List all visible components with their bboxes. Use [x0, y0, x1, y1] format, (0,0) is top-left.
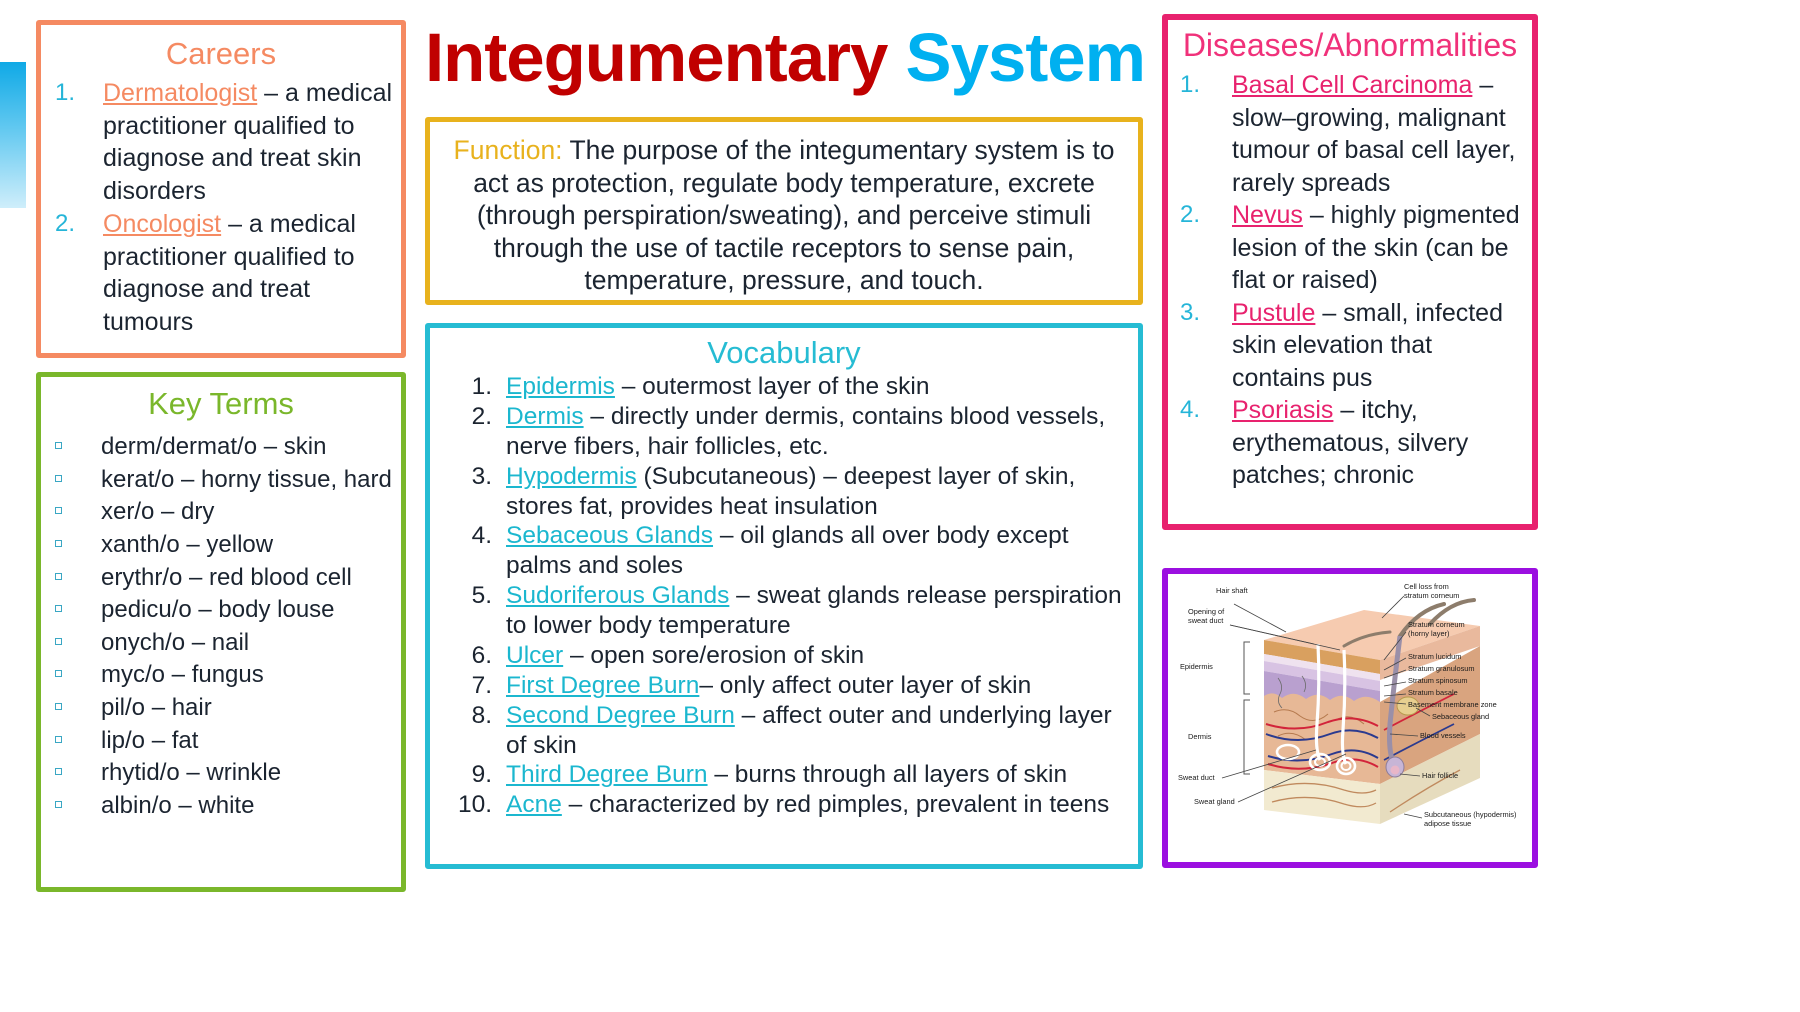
vocabulary-item-number: 9. — [450, 760, 506, 790]
skin-diagram: Hair shaft Opening of sweat duct Epiderm… — [1168, 574, 1532, 862]
function-card: Function: The purpose of the integumenta… — [425, 117, 1143, 305]
diseases-item: 4.Psoriasis – itchy, erythematous, silve… — [1180, 394, 1524, 492]
page-title: Integumentary System — [420, 22, 1150, 94]
vocabulary-item-text: First Degree Burn– only affect outer lay… — [506, 671, 1128, 701]
key-terms-item-text: lip/o – fat — [101, 725, 393, 758]
square-bullet-icon — [55, 529, 101, 547]
vocabulary-item-term: Third Degree Burn — [506, 761, 708, 788]
label-blood-vessels: Blood vessels — [1420, 731, 1466, 740]
label-stratum-granulosum: Stratum granulosum — [1408, 664, 1475, 673]
key-terms-item: erythr/o – red blood cell — [55, 562, 393, 595]
vocabulary-item-text: Third Degree Burn – burns through all la… — [506, 760, 1128, 790]
key-terms-item-text: xer/o – dry — [101, 496, 393, 529]
label-sweat-duct: Sweat duct — [1178, 773, 1215, 782]
vocabulary-item-term: Epidermis — [506, 373, 615, 400]
key-terms-item-text: rhytid/o – wrinkle — [101, 757, 393, 790]
left-accent-bar — [0, 62, 26, 208]
square-bullet-icon — [55, 790, 101, 808]
title-word-system: System — [906, 19, 1145, 96]
vocabulary-item-term: First Degree Burn — [506, 672, 699, 699]
key-terms-item-text: myc/o – fungus — [101, 659, 393, 692]
careers-item-text: Oncologist – a medical practitioner qual… — [103, 208, 393, 338]
vocabulary-item: 10.Acne – characterized by red pimples, … — [450, 790, 1128, 820]
label-stratum-basale: Stratum basale — [1408, 688, 1458, 697]
label-stratum-corneum: Stratum corneum (horny layer) — [1408, 620, 1465, 638]
key-terms-item-text: onych/o – nail — [101, 627, 393, 660]
vocabulary-item-definition: – directly under dermis, contains blood … — [506, 403, 1105, 460]
key-terms-item: xanth/o – yellow — [55, 529, 393, 562]
vocabulary-item-definition: – outermost layer of the skin — [615, 373, 930, 400]
vocabulary-item: 8.Second Degree Burn – affect outer and … — [450, 701, 1128, 761]
diseases-item-text: Psoriasis – itchy, erythematous, silvery… — [1232, 394, 1524, 492]
label-hair-follicle: Hair follicle — [1422, 771, 1458, 780]
vocabulary-item-number: 1. — [450, 372, 506, 402]
careers-item-text: Dermatologist – a medical practitioner q… — [103, 77, 393, 207]
key-terms-item: xer/o – dry — [55, 496, 393, 529]
square-bullet-icon — [55, 627, 101, 645]
key-terms-list: derm/dermat/o – skinkerat/o – horny tiss… — [41, 431, 401, 823]
square-bullet-icon — [55, 692, 101, 710]
skin-diagram-card: Hair shaft Opening of sweat duct Epiderm… — [1162, 568, 1538, 868]
square-bullet-icon — [55, 659, 101, 677]
square-bullet-icon — [55, 725, 101, 743]
vocabulary-item-term: Hypodermis — [506, 463, 637, 490]
diseases-item: 1.Basal Cell Carcinoma – slow–growing, m… — [1180, 69, 1524, 199]
careers-item: 2.Oncologist – a medical practitioner qu… — [55, 208, 393, 338]
diseases-item-number: 4. — [1180, 394, 1232, 425]
square-bullet-icon — [55, 594, 101, 612]
diseases-card: Diseases/Abnormalities 1.Basal Cell Carc… — [1162, 14, 1538, 530]
vocabulary-card: Vocabulary 1.Epidermis – outermost layer… — [425, 323, 1143, 869]
diseases-item-number: 1. — [1180, 69, 1232, 100]
careers-item: 1.Dermatologist – a medical practitioner… — [55, 77, 393, 207]
key-terms-item: pil/o – hair — [55, 692, 393, 725]
careers-item-number: 1. — [55, 77, 103, 108]
vocabulary-item-definition: – characterized by red pimples, prevalen… — [562, 791, 1109, 818]
vocabulary-item: 7.First Degree Burn– only affect outer l… — [450, 671, 1128, 701]
vocabulary-item: 5.Sudoriferous Glands – sweat glands rel… — [450, 581, 1128, 641]
square-bullet-icon — [55, 496, 101, 514]
vocabulary-item-number: 7. — [450, 671, 506, 701]
vocabulary-item: 9.Third Degree Burn – burns through all … — [450, 760, 1128, 790]
key-terms-item: albin/o – white — [55, 790, 393, 823]
diseases-item-term: Pustule — [1232, 299, 1315, 327]
vocabulary-item-number: 6. — [450, 641, 506, 671]
function-body: The purpose of the integumentary system … — [473, 135, 1114, 295]
careers-item-number: 2. — [55, 208, 103, 239]
vocabulary-item-term: Dermis — [506, 403, 584, 430]
vocabulary-item-definition: – open sore/erosion of skin — [563, 642, 864, 669]
vocabulary-item-number: 2. — [450, 402, 506, 432]
vocabulary-item-number: 8. — [450, 701, 506, 731]
vocabulary-item-text: Hypodermis (Subcutaneous) – deepest laye… — [506, 462, 1128, 522]
diseases-item-text: Pustule – small, infected skin elevation… — [1232, 297, 1524, 395]
key-terms-item: lip/o – fat — [55, 725, 393, 758]
square-bullet-icon — [55, 431, 101, 449]
label-epidermis: Epidermis — [1180, 662, 1213, 671]
vocabulary-item-text: Epidermis – outermost layer of the skin — [506, 372, 1128, 402]
vocabulary-item-number: 4. — [450, 521, 506, 551]
key-terms-item: rhytid/o – wrinkle — [55, 757, 393, 790]
careers-list: 1.Dermatologist – a medical practitioner… — [41, 77, 401, 338]
diseases-item-term: Basal Cell Carcinoma — [1232, 71, 1472, 99]
vocabulary-item-number: 3. — [450, 462, 506, 492]
label-sebaceous-gland: Sebaceous gland — [1432, 712, 1489, 721]
key-terms-item-text: kerat/o – horny tissue, hard — [101, 464, 393, 497]
key-terms-item: myc/o – fungus — [55, 659, 393, 692]
key-terms-item-text: pil/o – hair — [101, 692, 393, 725]
vocabulary-item: 2.Dermis – directly under dermis, contai… — [450, 402, 1128, 462]
key-terms-item-text: pedicu/o – body louse — [101, 594, 393, 627]
vocabulary-item-text: Dermis – directly under dermis, contains… — [506, 402, 1128, 462]
vocabulary-item-text: Second Degree Burn – affect outer and un… — [506, 701, 1128, 761]
vocabulary-item-term: Ulcer — [506, 642, 563, 669]
vocabulary-item-text: Acne – characterized by red pimples, pre… — [506, 790, 1128, 820]
key-terms-item: kerat/o – horny tissue, hard — [55, 464, 393, 497]
diseases-item: 3.Pustule – small, infected skin elevati… — [1180, 297, 1524, 395]
label-sweat-gland: Sweat gland — [1194, 797, 1235, 806]
key-terms-item-text: derm/dermat/o – skin — [101, 431, 393, 464]
key-terms-heading: Key Terms — [41, 387, 401, 421]
label-subcutaneous-adipose-tissue: Subcutaneous (hypodermis) adipose tissue — [1424, 810, 1516, 828]
vocabulary-heading: Vocabulary — [430, 336, 1138, 370]
slide-canvas: Careers 1.Dermatologist – a medical prac… — [0, 0, 1800, 1012]
key-terms-item: pedicu/o – body louse — [55, 594, 393, 627]
title-word-integumentary: Integumentary — [425, 19, 887, 96]
vocabulary-item-definition: – burns through all layers of skin — [708, 761, 1068, 788]
key-terms-item: derm/dermat/o – skin — [55, 431, 393, 464]
careers-item-term: Dermatologist — [103, 79, 257, 107]
label-cell-loss-stratum-corneum: Cell loss from stratum corneum — [1404, 582, 1459, 600]
label-dermis: Dermis — [1188, 732, 1211, 741]
vocabulary-item-text: Ulcer – open sore/erosion of skin — [506, 641, 1128, 671]
vocabulary-item-text: Sebaceous Glands – oil glands all over b… — [506, 521, 1128, 581]
vocabulary-list: 1.Epidermis – outermost layer of the ski… — [430, 372, 1138, 820]
diseases-heading: Diseases/Abnormalities — [1168, 28, 1532, 63]
diseases-item-number: 2. — [1180, 199, 1232, 230]
diseases-item-number: 3. — [1180, 297, 1232, 328]
diseases-item-term: Nevus — [1232, 201, 1303, 229]
key-terms-item-text: erythr/o – red blood cell — [101, 562, 393, 595]
key-terms-card: Key Terms derm/dermat/o – skinkerat/o – … — [36, 372, 406, 892]
square-bullet-icon — [55, 562, 101, 580]
vocabulary-item-term: Sebaceous Glands — [506, 522, 713, 549]
label-opening-of-sweat-duct: Opening of sweat duct — [1188, 607, 1224, 625]
vocabulary-item-number: 10. — [450, 790, 506, 820]
key-terms-item-text: albin/o – white — [101, 790, 393, 823]
vocabulary-item-term: Sudoriferous Glands — [506, 582, 729, 609]
diseases-item-text: Basal Cell Carcinoma – slow–growing, mal… — [1232, 69, 1524, 199]
label-stratum-lucidum: Stratum lucidum — [1408, 652, 1461, 661]
careers-item-term: Oncologist — [103, 210, 221, 238]
function-label: Function: — [454, 135, 563, 165]
vocabulary-item-term: Second Degree Burn — [506, 702, 735, 729]
vocabulary-item-definition: – only affect outer layer of skin — [699, 672, 1031, 699]
vocabulary-item: 6.Ulcer – open sore/erosion of skin — [450, 641, 1128, 671]
label-stratum-spinosum: Stratum spinosum — [1408, 676, 1468, 685]
diseases-list: 1.Basal Cell Carcinoma – slow–growing, m… — [1168, 69, 1532, 492]
vocabulary-item-number: 5. — [450, 581, 506, 611]
label-hair-shaft: Hair shaft — [1216, 586, 1248, 595]
function-text: Function: The purpose of the integumenta… — [444, 134, 1124, 297]
vocabulary-item: 1.Epidermis – outermost layer of the ski… — [450, 372, 1128, 402]
vocabulary-item: 3.Hypodermis (Subcutaneous) – deepest la… — [450, 462, 1128, 522]
diseases-item-term: Psoriasis — [1232, 396, 1333, 424]
square-bullet-icon — [55, 757, 101, 775]
vocabulary-item-term: Acne — [506, 791, 562, 818]
careers-card: Careers 1.Dermatologist – a medical prac… — [36, 20, 406, 358]
key-terms-item: onych/o – nail — [55, 627, 393, 660]
vocabulary-item: 4.Sebaceous Glands – oil glands all over… — [450, 521, 1128, 581]
square-bullet-icon — [55, 464, 101, 482]
key-terms-item-text: xanth/o – yellow — [101, 529, 393, 562]
label-basement-membrane-zone: Basement membrane zone — [1408, 700, 1497, 709]
vocabulary-item-text: Sudoriferous Glands – sweat glands relea… — [506, 581, 1128, 641]
diseases-item: 2.Nevus – highly pigmented lesion of the… — [1180, 199, 1524, 297]
careers-heading: Careers — [41, 37, 401, 71]
diseases-item-text: Nevus – highly pigmented lesion of the s… — [1232, 199, 1524, 297]
